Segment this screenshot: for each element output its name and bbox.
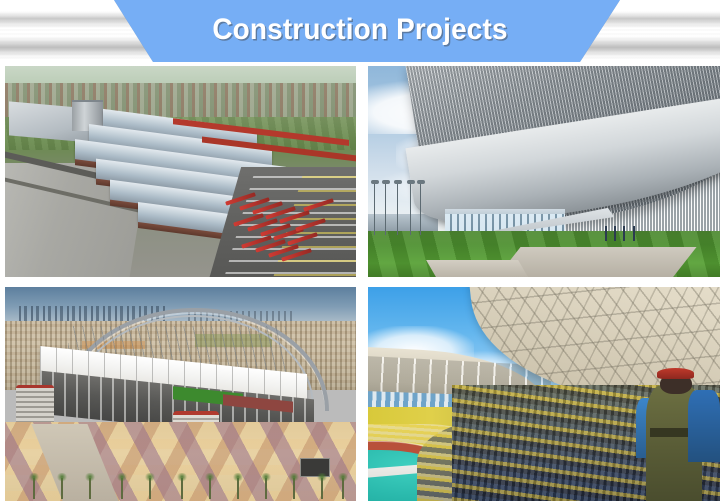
- paved-path: [497, 247, 696, 277]
- project-4-scene: [368, 287, 720, 501]
- project-1-scene: [5, 66, 356, 277]
- project-2-scene: [368, 66, 720, 277]
- truck-parking-lot: [223, 193, 356, 269]
- light-poles: [368, 184, 424, 235]
- construction-projects-page: Construction Projects: [0, 0, 720, 501]
- project-image-2[interactable]: [368, 66, 720, 277]
- page-title: Construction Projects: [25, 13, 695, 47]
- project-image-3[interactable]: [5, 287, 356, 501]
- pedestrian-figures: [600, 226, 642, 241]
- project-image-4[interactable]: [368, 287, 720, 501]
- spectator-blue-shirt: [688, 390, 720, 463]
- circular-ramp-tower: [16, 385, 55, 422]
- palm-trees: [5, 450, 356, 501]
- paved-path-secondary: [426, 260, 527, 277]
- project-image-grid: [5, 66, 715, 501]
- soldier-red-beret: [657, 368, 694, 379]
- project-3-scene: [5, 287, 356, 501]
- page-header-banner: Construction Projects: [0, 0, 720, 62]
- project-image-1[interactable]: [5, 66, 356, 277]
